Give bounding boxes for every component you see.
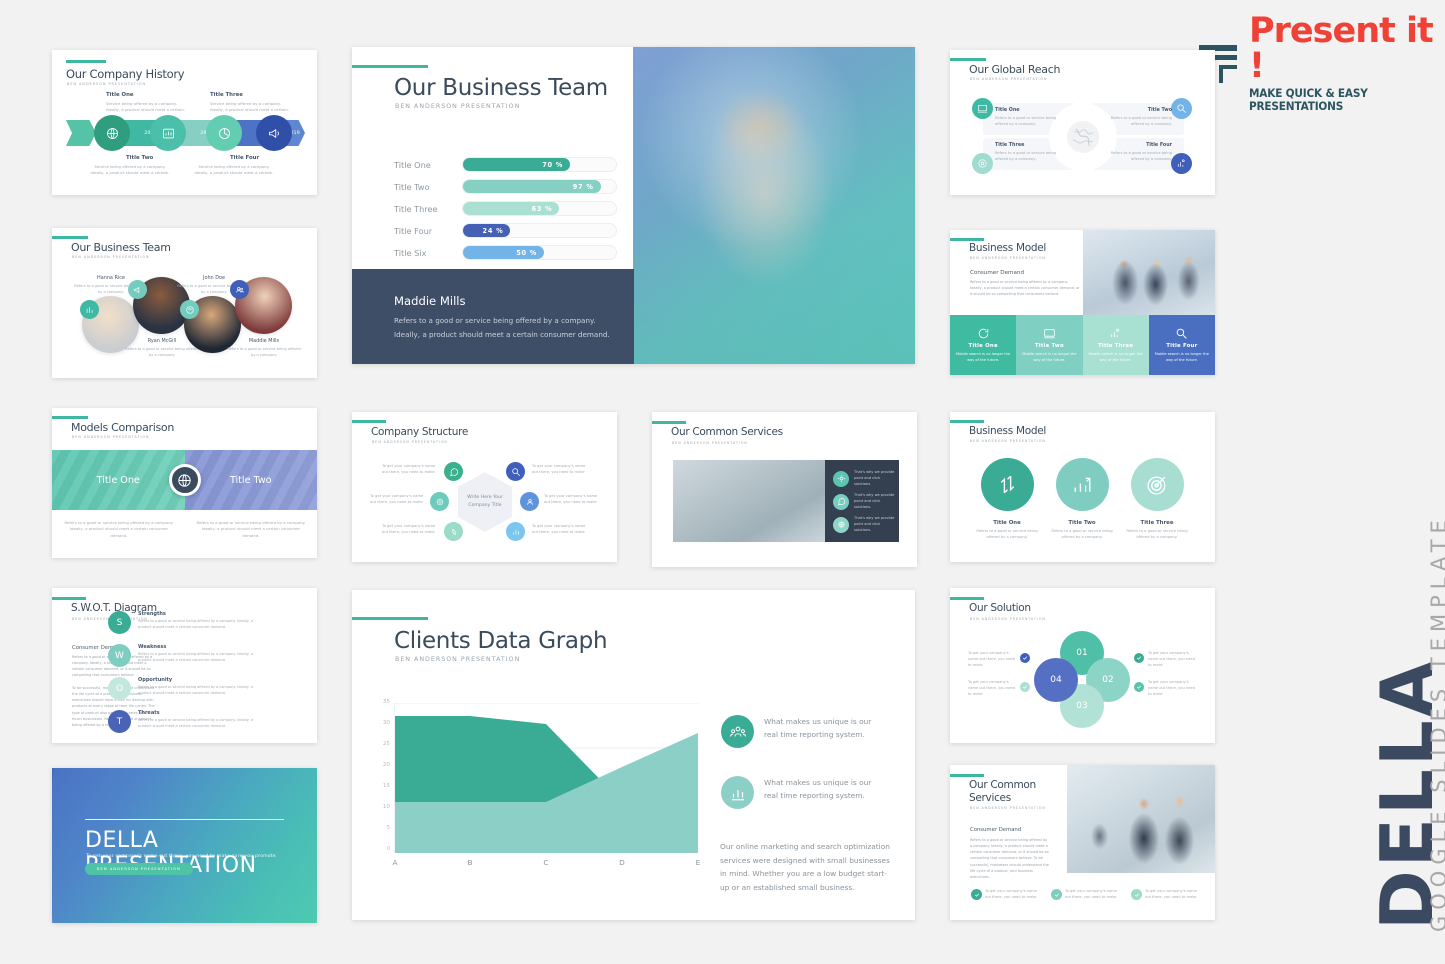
solution-note-3: To get your company's name out there, yo…	[1148, 651, 1198, 669]
footer-name: Maddie Mills	[394, 294, 466, 308]
model-label-3: Title Three	[1122, 520, 1192, 526]
model-label-1: Title One	[972, 520, 1042, 526]
slide-title: Company Structure	[371, 426, 468, 438]
cover-rule	[85, 819, 284, 820]
member-name-4: Maddie Mills	[229, 338, 299, 344]
slide-subtitle: BEN ANDERSON PRESENTATION	[970, 77, 1048, 81]
avatar-badge-icon-1	[80, 300, 99, 319]
comparison-right-title: Title Two	[185, 475, 318, 486]
reach-icon-3[interactable]	[972, 153, 993, 174]
y-tick-25: 25	[378, 741, 390, 747]
swot-desc-o: Refers to a good or service being offere…	[138, 685, 256, 696]
footer-line-1: Refers to a good or service being offere…	[394, 316, 596, 325]
slide-subtitle: BEN ANDERSON PRESENTATION	[395, 656, 520, 663]
accent-bar	[52, 416, 88, 419]
timeline-label-1: Title One	[106, 92, 134, 98]
check-desc-2: To get your company's name out there, yo…	[1065, 889, 1123, 901]
bar-track-1: 70 %	[462, 157, 617, 172]
tile-desc-4: Mobile search is no longer the way of th…	[1154, 352, 1210, 363]
service-row-1[interactable]: That's why we provide point and click so…	[833, 470, 898, 487]
service-desc-1: That's why we provide point and click so…	[854, 470, 898, 487]
team-footer: Maddie Mills Refers to a good or service…	[352, 269, 634, 364]
check-icon-3	[1131, 889, 1142, 900]
check-icon-1	[1020, 653, 1030, 663]
structure-desc-1: To get your company's name out there, yo…	[382, 464, 436, 476]
structure-icon-6[interactable]	[506, 522, 525, 541]
solution-note-4: To get your company's name out there, yo…	[1148, 680, 1198, 698]
service-row-3[interactable]: That's why we provide point and click so…	[833, 516, 898, 533]
member-desc-2: Refers to a good or service being offere…	[125, 347, 199, 359]
timeline-node-1[interactable]	[94, 115, 130, 151]
slide-our-solution[interactable]: Our Solution BEN ANDERSON PRESENTATION 0…	[950, 588, 1215, 743]
slide-our-business-team-large[interactable]: Our Business Team BEN ANDERSON PRESENTAT…	[352, 47, 915, 364]
monitor-icon	[1043, 327, 1056, 340]
bar-track-3: 63 %	[462, 201, 617, 216]
accent-bar	[352, 420, 386, 423]
model-tile-2[interactable]: Title Two Mobile search is no longer the…	[1016, 315, 1082, 375]
slide-title: Our Common Services	[671, 426, 783, 438]
slide-subtitle: BEN ANDERSON PRESENTATION	[672, 441, 748, 445]
slide-title: Business Model	[969, 425, 1046, 437]
reach-desc-3: Refers to a good or service being offere…	[995, 151, 1057, 163]
bar-value-5: 50 %	[463, 246, 544, 259]
slide-subtitle: BEN ANDERSON PRESENTATION	[72, 435, 150, 439]
model-label-2: Title Two	[1047, 520, 1117, 526]
slide-title: Models Comparison	[71, 421, 174, 434]
team-photo	[633, 47, 915, 364]
present-it-logo: Present it ! MAKE QUICK & EASY PRESENTAT…	[1195, 14, 1445, 113]
accent-bar	[950, 420, 984, 423]
slide-title: Our Business Team	[71, 241, 171, 254]
check-icon-2	[1020, 682, 1030, 692]
reach-icon-1[interactable]	[972, 98, 993, 119]
accent-bar	[950, 58, 986, 61]
comparison-left[interactable]: Title One	[52, 450, 185, 510]
structure-desc-6: To get your company's name out there, yo…	[532, 524, 586, 536]
swot-desc-s: Refers to a good or service being offere…	[138, 619, 256, 630]
tile-label-4: Title Four	[1166, 343, 1197, 349]
services-photo	[1067, 765, 1215, 873]
tile-label-2: Title Two	[1035, 343, 1064, 349]
tile-label-3: Title Three	[1098, 343, 1133, 349]
slide-subtitle: BEN ANDERSON PRESENTATION	[970, 256, 1046, 260]
slide-title-line-1: Our Common	[969, 779, 1036, 792]
bar-label-5: Title Six	[394, 248, 462, 258]
structure-desc-2: To get your company's name out there, yo…	[370, 494, 424, 506]
structure-desc-5: To get your company's name out there, yo…	[544, 494, 598, 506]
section-body: Refers to a good or service being offere…	[970, 837, 1050, 880]
y-tick-20: 20	[378, 762, 390, 768]
slide-our-common-services-photo[interactable]: Our Common Services BEN ANDERSON PRESENT…	[950, 765, 1215, 920]
comparison-right-desc: Refers to a good or service being offere…	[196, 520, 306, 539]
swot-label-o: Opportunity	[138, 677, 172, 683]
template-preview-canvas: Present it ! MAKE QUICK & EASY PRESENTAT…	[0, 0, 1445, 964]
x-tick-e: E	[690, 858, 706, 867]
section-title: Consumer Demand	[970, 270, 1024, 276]
slide-business-model-circles[interactable]: Business Model BEN ANDERSON PRESENTATION…	[950, 412, 1215, 562]
x-tick-c: C	[538, 858, 554, 867]
service-row-2[interactable]: That's why we provide point and click so…	[833, 493, 898, 510]
check-icon-3	[1134, 653, 1144, 663]
reach-label-2: Title Two	[1146, 108, 1172, 113]
slide-della-presentation-cover[interactable]: DELLA PRESENTATION To get your company's…	[52, 768, 317, 923]
slide-business-model-photo[interactable]: Business Model BEN ANDERSON PRESENTATION…	[950, 230, 1215, 375]
avatar-badge-icon-2	[128, 280, 147, 299]
swot-circle-o[interactable]: O	[108, 677, 131, 700]
solution-note-1: To get your company's name out there, yo…	[968, 651, 1018, 669]
check-icon-4	[1134, 682, 1144, 692]
timeline-label-2: Title Two	[126, 155, 153, 161]
model-desc-1: Refers to a good or service being offere…	[972, 529, 1042, 541]
member-desc-4: Refers to a good or service being offere…	[227, 347, 301, 359]
accent-bar	[950, 774, 984, 777]
accent-bar	[352, 65, 428, 68]
services-photo	[673, 460, 825, 542]
swot-desc-w: Refers to a good or service being offere…	[138, 652, 256, 663]
model-desc-2: Refers to a good or service being offere…	[1047, 529, 1117, 541]
reach-icon-4[interactable]	[1171, 153, 1192, 174]
slide-subtitle: BEN ANDERSON PRESENTATION	[970, 806, 1046, 810]
bar-track-2: 97 %	[462, 179, 617, 194]
globe-icon	[833, 517, 849, 533]
business-photo	[1083, 230, 1215, 315]
logo-title: Present it !	[1249, 14, 1445, 84]
accent-bar	[52, 597, 86, 600]
tile-desc-2: Mobile search is no longer the way of th…	[1021, 352, 1077, 363]
slide-subtitle: BEN ANDERSON PRESENTATION	[67, 82, 146, 86]
slide-our-global-reach[interactable]: Our Global Reach BEN ANDERSON PRESENTATI…	[950, 50, 1215, 195]
model-tile-4[interactable]: Title Four Mobile search is no longer th…	[1149, 315, 1215, 375]
check-desc-3: To get your company's name out there, yo…	[1145, 889, 1203, 901]
bar-track-5: 50 %	[462, 245, 617, 260]
bar-value-3: 63 %	[463, 202, 559, 215]
slide-title: Our Business Team	[394, 75, 608, 101]
structure-icon-1[interactable]	[444, 462, 463, 481]
swot-circle-s[interactable]: S	[108, 611, 131, 634]
slide-clients-data-graph[interactable]: Clients Data Graph BEN ANDERSON PRESENTA…	[352, 590, 915, 920]
tile-label-1: Title One	[968, 343, 997, 349]
reach-desc-2: Refers to a good or service being offere…	[1110, 116, 1172, 128]
slide-subtitle: BEN ANDERSON PRESENTATION	[970, 617, 1046, 621]
feature-text-1: What makes us unique is our real time re…	[764, 716, 884, 742]
slide-our-company-history[interactable]: Our Company History BEN ANDERSON PRESENT…	[52, 50, 317, 195]
structure-icon-2[interactable]	[430, 492, 449, 511]
side-subtitle: GOOGLE SLIDES TEMPLATE	[1429, 514, 1445, 932]
reach-label-1: Title One	[995, 108, 1020, 113]
x-tick-b: B	[462, 858, 478, 867]
accent-bar	[950, 597, 984, 600]
refresh-icon	[977, 327, 990, 340]
model-tile-3[interactable]: Title Three Mobile search is no longer t…	[1083, 315, 1149, 375]
swot-label-s: Strengths	[138, 611, 166, 617]
structure-icon-4[interactable]	[506, 462, 525, 481]
y-tick-0: 0	[378, 846, 390, 852]
service-desc-3: That's why we provide point and click so…	[854, 516, 898, 533]
y-tick-30: 30	[378, 720, 390, 726]
slide-company-structure[interactable]: Company Structure BEN ANDERSON PRESENTAT…	[352, 412, 617, 562]
chart-pin-icon	[1109, 327, 1122, 340]
model-desc-3: Refers to a good or service being offere…	[1122, 529, 1192, 541]
bar-chart-icon	[721, 776, 754, 809]
slide-subtitle: BEN ANDERSON PRESENTATION	[970, 439, 1046, 443]
bar-label-1: Title One	[394, 160, 462, 170]
comparison-left-title: Title One	[52, 475, 185, 486]
check-desc-1: To get your company's name out there, yo…	[985, 889, 1043, 901]
section-title: Consumer Demand	[970, 827, 1021, 833]
swot-circle-t[interactable]: T	[108, 710, 131, 733]
service-desc-2: That's why we provide point and click so…	[854, 493, 898, 510]
timeline-chevron-start	[66, 120, 96, 146]
check-icon-1	[971, 889, 982, 900]
side-branding: DELLA GOOGLE SLIDES TEMPLATE	[1325, 360, 1445, 940]
tile-desc-3: Mobile search is no longer the way of th…	[1088, 352, 1144, 363]
timeline-node-3[interactable]	[206, 115, 242, 151]
tile-desc-1: Mobile search is no longer the way of th…	[955, 352, 1011, 363]
progress-row-4: Title Four 24 %	[394, 223, 617, 238]
swot-desc-t: Refers to a good or service being offere…	[138, 718, 256, 729]
bar-track-4: 24 %	[462, 223, 617, 238]
timeline-desc-2: Service being offered by a company. Idea…	[87, 164, 173, 176]
progress-row-5: Title Six 50 %	[394, 245, 617, 260]
center-hexagon: Write Here Your Company Title	[458, 472, 512, 532]
model-tile-1[interactable]: Title One Mobile search is no longer the…	[950, 315, 1016, 375]
accent-bar	[652, 421, 686, 424]
structure-icon-3[interactable]	[444, 522, 463, 541]
slide-our-common-services[interactable]: Our Common Services BEN ANDERSON PRESENT…	[652, 412, 917, 567]
slide-title: Clients Data Graph	[394, 628, 607, 654]
chart-svg	[394, 703, 699, 853]
slide-title: Business Model	[969, 242, 1046, 254]
timeline-label-4: Title Four	[230, 155, 259, 161]
model-circle-2[interactable]	[1056, 458, 1109, 511]
center-hexagon-label: Write Here Your Company Title	[458, 494, 512, 509]
slide-swot-diagram[interactable]: S.W.O.T. Diagram BEN ANDERSON PRESENTATI…	[52, 588, 317, 743]
gear-icon	[833, 471, 849, 487]
reach-label-3: Title Three	[995, 143, 1024, 148]
footer-line-2: Ideally, a product should meet a certain…	[394, 330, 610, 339]
search-icon	[1175, 327, 1188, 340]
bar-value-2: 97 %	[463, 180, 601, 193]
structure-desc-4: To get your company's name out there, yo…	[532, 464, 586, 476]
comparison-left-desc: Refers to a good or service being offere…	[64, 520, 174, 539]
timeline: 2016 2017 2018 2019	[66, 116, 304, 150]
logo-subtitle: MAKE QUICK & EASY PRESENTATIONS	[1249, 87, 1433, 113]
y-tick-10: 10	[378, 804, 390, 810]
timeline-node-4[interactable]	[256, 115, 292, 151]
timeline-desc-4: Service being offered by a company. Idea…	[191, 164, 277, 176]
solution-note-2: To get your company's name out there, yo…	[968, 680, 1018, 698]
swot-label-t: Threats	[138, 710, 160, 716]
reach-desc-1: Refers to a good or service being offere…	[995, 116, 1057, 128]
globe-icon	[1054, 108, 1112, 166]
slide-title: Our Solution	[969, 602, 1031, 614]
area-chart: 35 30 25 20 15 10 5 0 A B C D E	[394, 703, 699, 868]
y-tick-35: 35	[378, 699, 390, 705]
solution-circle-04[interactable]: 04	[1034, 658, 1078, 702]
bar-label-2: Title Two	[394, 182, 462, 192]
check-icon-2	[1051, 889, 1062, 900]
accent-bar	[66, 60, 106, 63]
reach-label-4: Title Four	[1144, 143, 1172, 148]
feature-text-2: What makes us unique is our real time re…	[764, 777, 884, 803]
cover-subtitle: To get your company's name out there, yo…	[86, 854, 277, 859]
accent-bar	[950, 238, 984, 241]
swot-circle-w[interactable]: W	[108, 644, 131, 667]
bar-value-1: 70 %	[463, 158, 570, 171]
graph-paragraph: Our online marketing and search optimiza…	[720, 840, 894, 895]
model-circle-1[interactable]	[981, 458, 1034, 511]
structure-icon-5[interactable]	[520, 492, 539, 511]
y-tick-5: 5	[378, 825, 390, 831]
slide-title: Our Company History	[66, 67, 184, 81]
structure-desc-3: To get your company's name out there, yo…	[382, 524, 436, 536]
swot-label-w: Weakness	[138, 644, 166, 650]
timeline-desc-3: Service being offered by a company. Idea…	[210, 101, 296, 113]
slide-title-line-2: Services	[969, 792, 1011, 805]
slide-subtitle: BEN ANDERSON PRESENTATION	[72, 255, 150, 259]
slide-our-business-team-small[interactable]: Our Business Team BEN ANDERSON PRESENTAT…	[52, 228, 317, 378]
comparison-right[interactable]: Title Two	[185, 450, 318, 510]
timeline-label-3: Title Three	[210, 92, 243, 98]
bar-label-3: Title Three	[394, 204, 462, 214]
accent-bar	[52, 236, 88, 239]
progress-row-1: Title One 70 %	[394, 157, 617, 172]
x-tick-d: D	[614, 858, 630, 867]
accent-bar	[352, 617, 428, 620]
slide-subtitle: BEN ANDERSON PRESENTATION	[372, 440, 448, 444]
reach-icon-2[interactable]	[1171, 98, 1192, 119]
avatar-badge-icon-4	[230, 280, 249, 299]
y-tick-15: 15	[378, 783, 390, 789]
timeline-desc-1: Service being offered by a company. Idea…	[106, 101, 192, 113]
member-name-2: Ryan McGill	[127, 338, 197, 344]
people-icon	[721, 715, 754, 748]
progress-row-2: Title Two 97 %	[394, 179, 617, 194]
timeline-node-2[interactable]	[150, 115, 186, 151]
chat-icon	[833, 494, 849, 510]
progress-row-3: Title Three 63 %	[394, 201, 617, 216]
bar-label-4: Title Four	[394, 226, 462, 236]
slide-title: Our Global Reach	[969, 63, 1060, 76]
slide-models-comparison[interactable]: Models Comparison BEN ANDERSON PRESENTAT…	[52, 408, 317, 558]
cover-button[interactable]: BEN ANDERSON PRESENTATION	[85, 863, 193, 875]
model-circle-3[interactable]	[1131, 458, 1184, 511]
x-tick-a: A	[387, 858, 403, 867]
section-body: Refers to a good or service being offere…	[970, 280, 1080, 298]
globe-badge-icon	[169, 464, 201, 496]
slide-subtitle: BEN ANDERSON PRESENTATION	[395, 103, 520, 110]
bar-value-4: 24 %	[463, 224, 510, 237]
reach-desc-4: Refers to a good or service being offere…	[1110, 151, 1172, 163]
avatar-badge-icon-3	[180, 300, 199, 319]
